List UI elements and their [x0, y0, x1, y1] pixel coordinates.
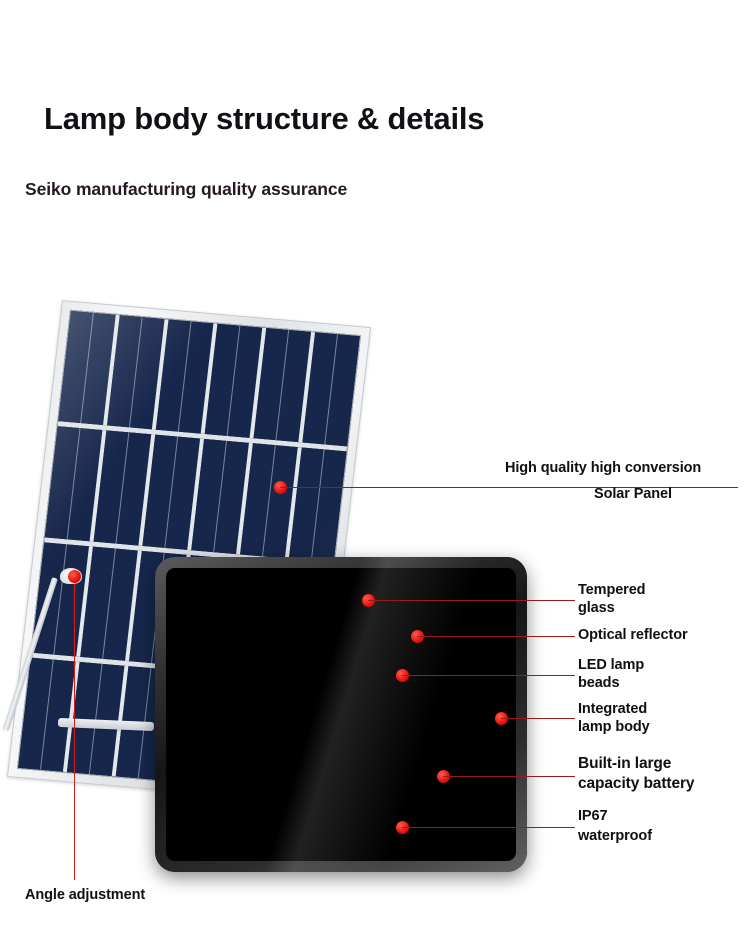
callout-line-optical-reflector: [417, 636, 575, 637]
page-title: Lamp body structure & details: [44, 101, 484, 137]
callout-line-tempered-glass: [368, 600, 575, 601]
callout-solar-panel-line2: Solar Panel: [594, 485, 672, 503]
callout-battery-line1: Built-in large: [578, 754, 671, 773]
floodlight-body: Solar Light IP67: [155, 557, 527, 872]
page-subtitle: Seiko manufacturing quality assurance: [25, 179, 347, 200]
callout-dot-angle-adjustment: [68, 570, 81, 583]
callout-led-lamp-beads-line2: beads: [578, 674, 619, 692]
callout-line-led-lamp-beads: [402, 675, 575, 676]
callout-line-ip67-waterproof: [402, 827, 575, 828]
infographic-canvas: Lamp body structure & details Seiko manu…: [0, 0, 750, 931]
callout-line-angle-adjustment: [74, 584, 75, 880]
callout-led-lamp-beads-line1: LED lamp: [578, 656, 644, 674]
callout-battery-line2: capacity battery: [578, 774, 694, 793]
callout-tempered-glass-line1: Tempered: [578, 581, 645, 599]
lamp-outer-bezel: [155, 557, 527, 872]
callout-ip67-waterproof-line1: IP67: [578, 807, 607, 825]
callout-integrated-lamp-body-line1: Integrated: [578, 700, 647, 718]
callout-solar-panel-line1: High quality high conversion: [505, 459, 701, 477]
callout-integrated-lamp-body-line2: lamp body: [578, 718, 650, 736]
callout-angle-adjustment-label: Angle adjustment: [25, 886, 145, 904]
callout-line-battery: [443, 776, 575, 777]
callout-line-integrated-lamp-body: [501, 718, 575, 719]
callout-tempered-glass-line2: glass: [578, 599, 615, 617]
callout-optical-reflector-label: Optical reflector: [578, 626, 688, 644]
callout-ip67-waterproof-line2: waterproof: [578, 827, 652, 845]
